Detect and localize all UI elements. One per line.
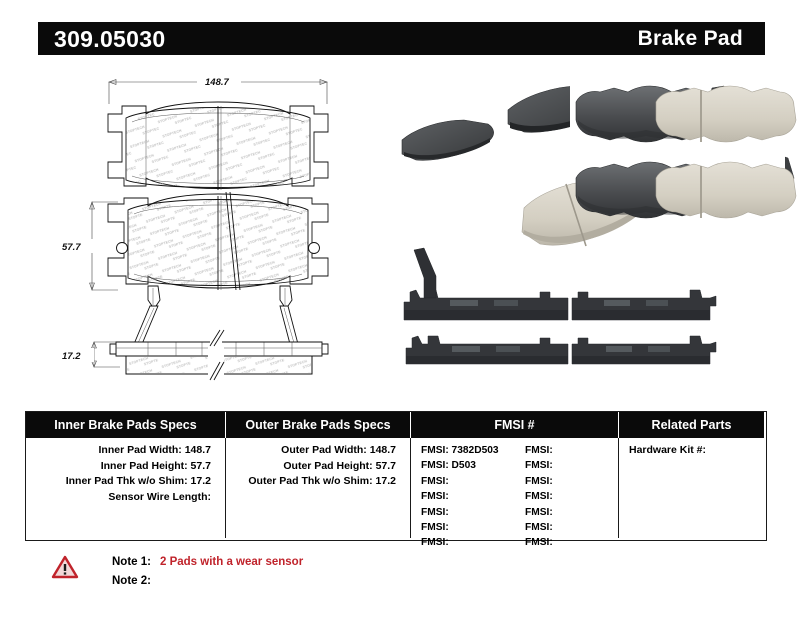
dimension-width: 148.7 <box>109 74 327 104</box>
column-header-related-parts: Related Parts <box>619 412 764 438</box>
pad-side-view <box>110 306 328 380</box>
warning-triangle-icon <box>52 555 78 579</box>
fmsi-right: FMSI: <box>525 505 553 520</box>
specs-table-header-row: Inner Brake Pads Specs Outer Brake Pads … <box>26 412 766 438</box>
specs-table: Inner Brake Pads Specs Outer Brake Pads … <box>25 411 767 541</box>
dim-width-label: 148.7 <box>205 77 229 88</box>
inner-spec-row: Sensor Wire Length: <box>26 490 225 506</box>
note-1-label: Note 1: <box>112 553 160 572</box>
fmsi-row: FMSI: FMSI: <box>421 520 618 535</box>
dim-height-label: 57.7 <box>62 242 81 253</box>
inner-spec-row: Inner Pad Width: 148.7 <box>26 443 225 459</box>
photo-pads-front-back <box>570 76 796 218</box>
fmsi-row: FMSI: FMSI: <box>421 505 618 520</box>
column-header-fmsi: FMSI # <box>411 412 619 438</box>
fmsi-left: FMSI: <box>421 505 525 520</box>
dim-thickness-label: 17.2 <box>62 351 81 362</box>
fmsi-row: FMSI: D503 FMSI: <box>421 458 618 473</box>
fmsi-right: FMSI: <box>525 520 553 535</box>
fmsi-left: FMSI: <box>421 474 525 489</box>
outer-spec-row: Outer Pad Height: 57.7 <box>226 459 410 475</box>
fmsi-left: FMSI: <box>421 520 525 535</box>
note-1-value: 2 Pads with a wear sensor <box>160 556 303 568</box>
notes-text-block: Note 1:2 Pads with a wear sensor Note 2: <box>112 553 303 591</box>
note-1: Note 1:2 Pads with a wear sensor <box>112 553 303 572</box>
fmsi-right: FMSI: <box>525 535 553 550</box>
technical-drawing-panel: STOPTECH STOPTECH STOPTECH STOPTECH 148.… <box>30 62 390 392</box>
fmsi-row: FMSI: FMSI: <box>421 489 618 504</box>
cell-inner-specs: Inner Pad Width: 148.7 Inner Pad Height:… <box>26 438 226 538</box>
inner-spec-row: Inner Pad Height: 57.7 <box>26 459 225 475</box>
cell-fmsi: FMSI: 7382D503 FMSI: FMSI: D503 FMSI: FM… <box>411 438 619 538</box>
fmsi-row: FMSI: FMSI: <box>421 474 618 489</box>
outer-spec-row: Outer Pad Width: 148.7 <box>226 443 410 459</box>
note-2-label: Note 2: <box>112 572 160 591</box>
fmsi-left: FMSI: D503 <box>421 458 525 473</box>
header-bar: 309.05030 Brake Pad <box>38 22 765 55</box>
pad-middle-view <box>108 192 328 306</box>
column-header-inner-specs: Inner Brake Pads Specs <box>26 412 226 438</box>
note-2: Note 2: <box>112 572 303 591</box>
notes-section: Note 1:2 Pads with a wear sensor Note 2: <box>52 553 303 591</box>
fmsi-left: FMSI: 7382D503 <box>421 443 525 458</box>
hardware-kit-row: Hardware Kit #: <box>619 443 764 459</box>
product-type-label: Brake Pad <box>638 27 743 51</box>
pad-top-view <box>108 102 328 190</box>
cell-outer-specs: Outer Pad Width: 148.7 Outer Pad Height:… <box>226 438 411 538</box>
fmsi-right: FMSI: <box>525 489 553 504</box>
spec-sheet: 309.05030 Brake Pad STOPTECH STOPTECH ST… <box>0 0 800 619</box>
fmsi-right: FMSI: <box>525 443 553 458</box>
photo-edge-view-pads <box>404 248 716 364</box>
fmsi-right: FMSI: <box>525 474 553 489</box>
fmsi-right: FMSI: <box>525 458 553 473</box>
cell-related-parts: Hardware Kit #: <box>619 438 764 538</box>
product-photo-panel <box>390 62 780 392</box>
fmsi-left: FMSI: <box>421 489 525 504</box>
fmsi-left: FMSI: <box>421 535 525 550</box>
fmsi-row: FMSI: 7382D503 FMSI: <box>421 443 618 458</box>
specs-table-body: Inner Pad Width: 148.7 Inner Pad Height:… <box>26 438 766 538</box>
inner-spec-row: Inner Pad Thk w/o Shim: 17.2 <box>26 474 225 490</box>
fmsi-row: FMSI: FMSI: <box>421 535 618 550</box>
part-number: 309.05030 <box>54 26 165 53</box>
column-header-outer-specs: Outer Brake Pads Specs <box>226 412 411 438</box>
outer-spec-row: Outer Pad Thk w/o Shim: 17.2 <box>226 474 410 490</box>
